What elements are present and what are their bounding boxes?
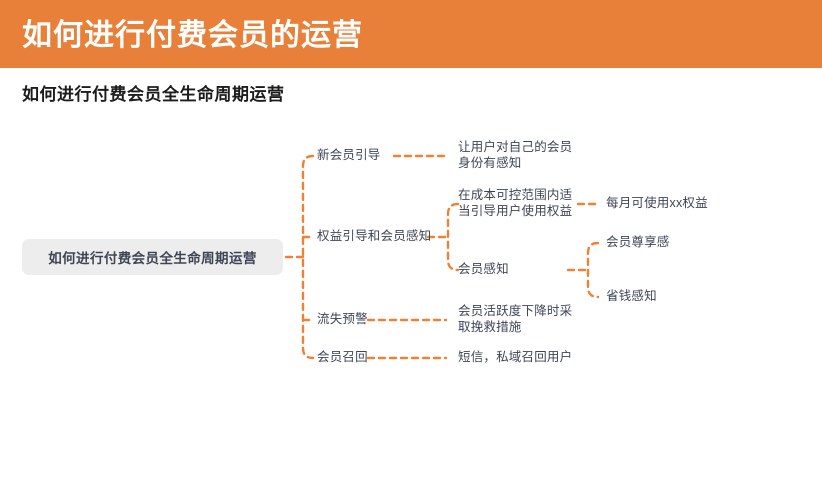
mindmap-node-member-perception[interactable]: 会员感知 [458,261,509,277]
connector-level1-spine [303,156,313,358]
mindmap-node-identity-awareness[interactable]: 让用户对自己的会员 身份有感知 [458,139,572,171]
mindmap-node-activity-rescue[interactable]: 会员活跃度下降时采 取挽救措施 [458,303,572,335]
mindmap-node-new-member-guide[interactable]: 新会员引导 [317,147,381,163]
mindmap-node-monthly-benefit[interactable]: 每月可使用xx权益 [606,195,708,211]
mindmap-node-member-recall[interactable]: 会员召回 [317,349,368,365]
mindmap-root-label: 如何进行付费会员全生命周期运营 [48,247,257,267]
connector-level2-spine [448,204,458,270]
mindmap-root-node[interactable]: 如何进行付费会员全生命周期运营 [22,239,283,275]
mindmap-node-sms-private-domain[interactable]: 短信，私域召回用户 [458,349,572,365]
mindmap-node-exclusive-feeling[interactable]: 会员尊享感 [606,234,670,250]
mindmap-node-cost-controlled-guide[interactable]: 在成本可控范围内适 当引导用户使用权益 [458,187,572,219]
mindmap-diagram: 如何进行付费会员全生命周期运营 新会员引导 权益引导和会员感知 流失预警 会员召… [0,120,822,390]
mindmap-node-churn-warning[interactable]: 流失预警 [317,311,368,327]
mindmap-node-benefit-guide[interactable]: 权益引导和会员感知 [317,228,431,244]
section-subtitle: 如何进行付费会员全生命周期运营 [22,80,285,105]
connector-level3-spine [588,243,598,297]
mindmap-node-saving-perception[interactable]: 省钱感知 [606,288,657,304]
page-title: 如何进行付费会员的运营 [22,10,363,54]
